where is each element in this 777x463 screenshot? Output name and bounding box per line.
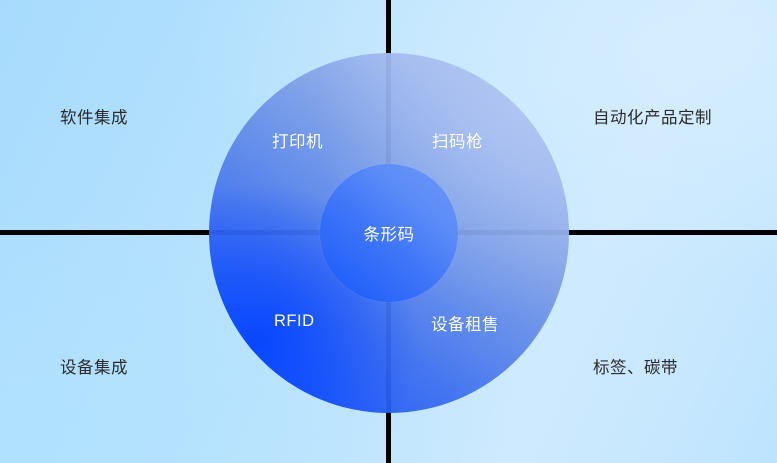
ring-label-equipment-rental[interactable]: 设备租售 (431, 311, 499, 335)
center-label-barcode[interactable]: 条形码 (364, 221, 415, 245)
ring-label-rfid[interactable]: RFID (274, 312, 315, 331)
diagram-canvas: 软件集成 自动化产品定制 设备集成 标签、碳带 打印机 扫码枪 RFID 设备租… (0, 0, 777, 463)
ring-label-scanner[interactable]: 扫码枪 (432, 128, 483, 152)
quadrant-label-equipment-integration[interactable]: 设备集成 (60, 354, 128, 378)
quadrant-label-software-integration[interactable]: 软件集成 (60, 104, 128, 128)
ring-label-printer[interactable]: 打印机 (272, 128, 323, 152)
quadrant-label-automation-custom[interactable]: 自动化产品定制 (593, 104, 712, 128)
center-label-wrapper: 条形码 (320, 164, 458, 302)
quadrant-label-labels-ribbons[interactable]: 标签、碳带 (593, 354, 678, 378)
